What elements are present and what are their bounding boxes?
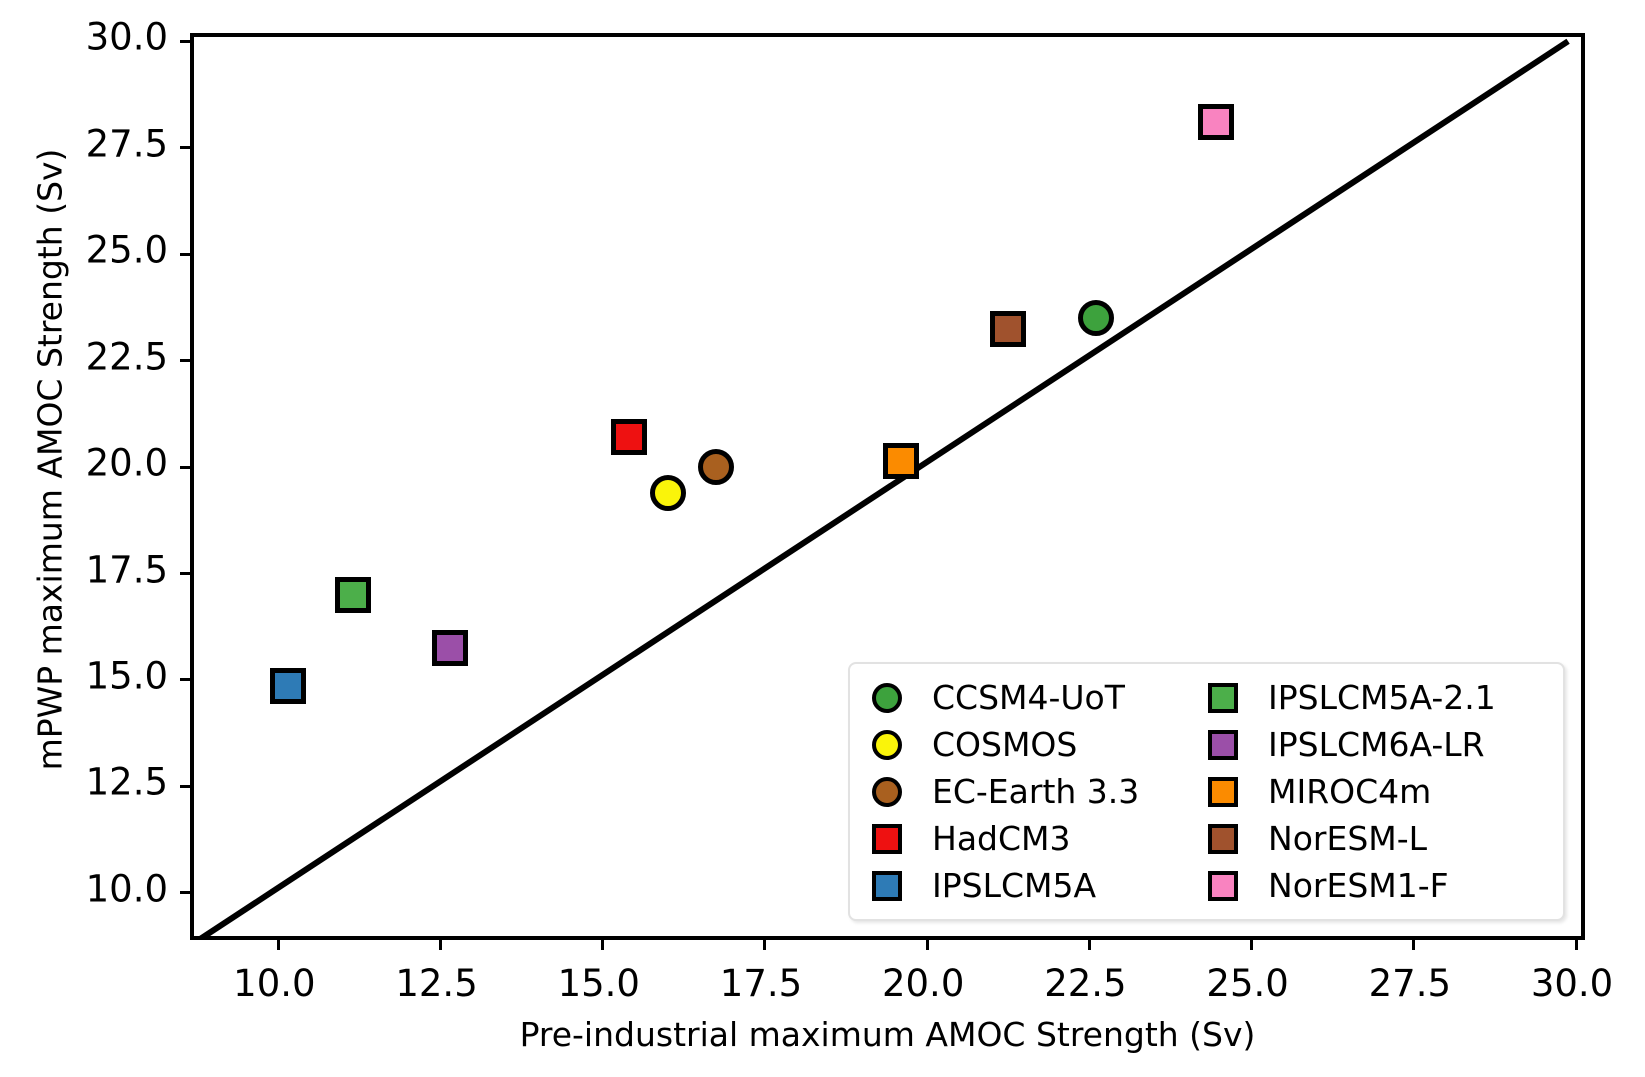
x-tick-label: 12.5 — [395, 962, 477, 1005]
legend-label: MIROC4m — [1268, 772, 1431, 811]
x-tick — [926, 936, 929, 950]
y-tick-label: 25.0 — [86, 229, 168, 272]
x-axis-title: Pre-industrial maximum AMOC Strength (Sv… — [190, 1015, 1585, 1054]
x-tick — [277, 936, 280, 950]
y-tick — [180, 359, 194, 362]
legend-item[interactable]: EC-Earth 3.3 — [872, 769, 1208, 814]
legend-swatch-square-icon — [872, 871, 902, 901]
y-tick-label: 15.0 — [86, 654, 168, 697]
data-point-ipslcm5a — [270, 668, 306, 704]
data-point-cosmos — [650, 475, 686, 511]
x-tick — [439, 936, 442, 950]
data-point-ccsm4-uot — [1078, 300, 1114, 336]
data-point-ec-earth-3-3 — [698, 449, 734, 485]
scatter-figure: mPWP maximum AMOC Strength (Sv) 10.012.5… — [0, 0, 1645, 1077]
legend-swatch-square-icon — [872, 824, 902, 854]
y-tick — [180, 253, 194, 256]
x-tick-label: 10.0 — [233, 962, 315, 1005]
y-tick-label: 17.5 — [86, 548, 168, 591]
legend-label: IPSLCM5A — [932, 866, 1096, 905]
y-tick-label: 27.5 — [86, 122, 168, 165]
legend-label: IPSLCM6A-LR — [1268, 725, 1485, 764]
legend-item[interactable]: IPSLCM5A — [872, 863, 1208, 908]
y-tick — [180, 466, 194, 469]
legend-item[interactable]: IPSLCM5A-2.1 — [1208, 675, 1549, 720]
x-tick-label: 25.0 — [1206, 962, 1288, 1005]
legend-label: HadCM3 — [932, 819, 1071, 858]
legend-label: IPSLCM5A-2.1 — [1268, 678, 1496, 717]
legend-item[interactable]: IPSLCM6A-LR — [1208, 722, 1549, 767]
x-tick — [763, 936, 766, 950]
y-tick-label: 20.0 — [86, 442, 168, 485]
legend-swatch-square-icon — [1208, 683, 1238, 713]
legend-item[interactable]: NorESM-L — [1208, 816, 1549, 861]
legend-item[interactable]: MIROC4m — [1208, 769, 1549, 814]
legend-label: EC-Earth 3.3 — [932, 772, 1139, 811]
y-tick — [180, 678, 194, 681]
x-tick-label: 22.5 — [1044, 962, 1126, 1005]
y-tick-label: 22.5 — [86, 335, 168, 378]
data-point-noresm-l — [990, 311, 1026, 347]
data-point-hadcm3 — [611, 419, 647, 455]
legend-column-left: CCSM4-UoTCOSMOSEC-Earth 3.3HadCM3IPSLCM5… — [872, 674, 1208, 909]
legend-label: CCSM4-UoT — [932, 678, 1125, 717]
x-tick-label: 30.0 — [1531, 962, 1613, 1005]
legend: CCSM4-UoTCOSMOSEC-Earth 3.3HadCM3IPSLCM5… — [848, 662, 1565, 921]
y-tick — [180, 146, 194, 149]
x-tick — [1250, 936, 1253, 950]
y-tick — [180, 40, 194, 43]
y-tick — [180, 891, 194, 894]
x-tick-label: 27.5 — [1369, 962, 1451, 1005]
legend-swatch-square-icon — [1208, 730, 1238, 760]
y-tick-label: 10.0 — [86, 867, 168, 910]
legend-item[interactable]: HadCM3 — [872, 816, 1208, 861]
x-tick — [1412, 936, 1415, 950]
legend-swatch-circle-icon — [872, 777, 902, 807]
data-point-noresm1-f — [1198, 104, 1234, 140]
y-tick — [180, 785, 194, 788]
data-point-miroc4m — [883, 443, 919, 479]
legend-swatch-square-icon — [1208, 871, 1238, 901]
legend-column-right: IPSLCM5A-2.1IPSLCM6A-LRMIROC4mNorESM-LNo… — [1208, 674, 1549, 909]
y-axis-title: mPWP maximum AMOC Strength (Sv) — [31, 10, 70, 910]
x-tick-label: 20.0 — [882, 962, 964, 1005]
legend-label: NorESM1-F — [1268, 866, 1449, 905]
legend-item[interactable]: CCSM4-UoT — [872, 675, 1208, 720]
x-tick-label: 15.0 — [558, 962, 640, 1005]
legend-label: COSMOS — [932, 725, 1077, 764]
y-tick — [180, 572, 194, 575]
x-tick — [1088, 936, 1091, 950]
legend-label: NorESM-L — [1268, 819, 1427, 858]
x-tick — [601, 936, 604, 950]
legend-swatch-square-icon — [1208, 824, 1238, 854]
legend-item[interactable]: NorESM1-F — [1208, 863, 1549, 908]
legend-swatch-circle-icon — [872, 683, 902, 713]
legend-item[interactable]: COSMOS — [872, 722, 1208, 767]
x-tick-label: 17.5 — [720, 962, 802, 1005]
data-point-ipslcm6a-lr — [432, 630, 468, 666]
y-tick-label: 30.0 — [86, 16, 168, 59]
data-point-ipslcm5a-2-1 — [335, 577, 371, 613]
legend-swatch-circle-icon — [872, 730, 902, 760]
legend-swatch-square-icon — [1208, 777, 1238, 807]
x-tick — [1575, 936, 1578, 950]
y-tick-label: 12.5 — [86, 761, 168, 804]
